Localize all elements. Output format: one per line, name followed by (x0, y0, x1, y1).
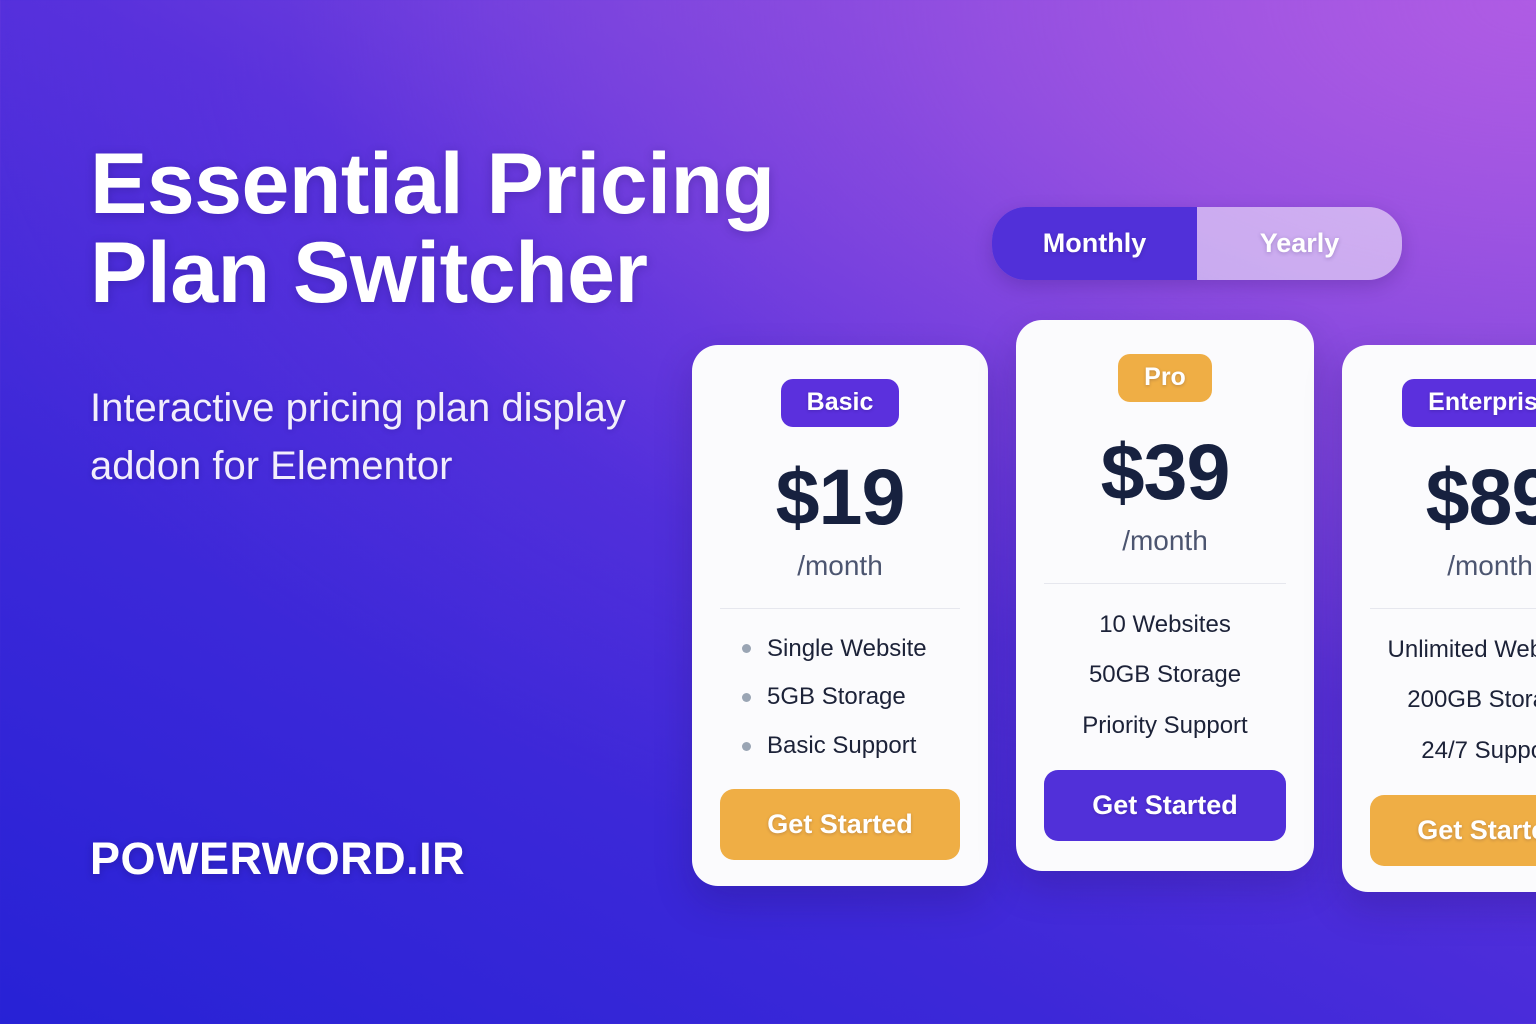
feature-item: 5GB Storage (720, 673, 960, 722)
plan-price: $89 (1426, 457, 1536, 536)
plan-price: $39 (1101, 432, 1230, 511)
hero-panel: Essential Pricing Plan Switcher Interact… (90, 140, 790, 495)
pricing-card-pro[interactable]: Pro $39 /month 10 Websites 50GB Storage … (1016, 320, 1314, 871)
billing-period-toggle[interactable]: Monthly Yearly (992, 207, 1402, 280)
bullet-dot-icon (742, 742, 751, 751)
brand-watermark: POWERWORD.IR (90, 833, 465, 885)
feature-label: 10 Websites (1099, 611, 1231, 638)
plan-period: /month (1447, 550, 1533, 582)
bullet-dot-icon (742, 644, 751, 653)
toggle-option-monthly[interactable]: Monthly (992, 207, 1197, 280)
card-divider (1044, 583, 1286, 584)
feature-label: Basic Support (767, 732, 916, 761)
get-started-button[interactable]: Get Started (1044, 770, 1286, 841)
feature-label: Priority Support (1082, 712, 1247, 739)
feature-list: 10 Websites 50GB Storage Priority Suppor… (1044, 600, 1286, 752)
feature-item: Basic Support (720, 722, 960, 771)
pricing-cards-row: Basic $19 /month Single Website 5GB Stor… (692, 320, 1536, 892)
plan-period: /month (1122, 525, 1208, 557)
toggle-option-yearly[interactable]: Yearly (1197, 207, 1402, 280)
feature-item: Unlimited Websites (1370, 625, 1536, 676)
feature-item: 24/7 Support (1370, 726, 1536, 777)
feature-label: 24/7 Support (1421, 737, 1536, 764)
get-started-button[interactable]: Get Started (720, 789, 960, 860)
feature-label: Unlimited Websites (1388, 636, 1536, 663)
plan-badge: Enterprise (1402, 379, 1536, 427)
plan-period: /month (797, 550, 883, 582)
bullet-dot-icon (742, 693, 751, 702)
card-divider (1370, 608, 1536, 609)
page-title-line-2: Plan Switcher (90, 229, 790, 318)
feature-item: Single Website (720, 625, 960, 674)
pricing-card-basic[interactable]: Basic $19 /month Single Website 5GB Stor… (692, 345, 988, 886)
feature-list: Unlimited Websites 200GB Storage 24/7 Su… (1370, 625, 1536, 777)
feature-label: Single Website (767, 635, 927, 664)
pricing-card-enterprise[interactable]: Enterprise $89 /month Unlimited Websites… (1342, 345, 1536, 892)
page-title-line-1: Essential Pricing (90, 140, 790, 229)
card-divider (720, 608, 960, 609)
page-subtitle: Interactive pricing plan display addon f… (90, 379, 650, 495)
feature-item: 200GB Storage (1370, 675, 1536, 726)
feature-list: Single Website 5GB Storage Basic Support (720, 625, 960, 771)
feature-item: 50GB Storage (1044, 650, 1286, 701)
page-title: Essential Pricing Plan Switcher (90, 140, 790, 319)
feature-item: 10 Websites (1044, 600, 1286, 651)
feature-item: Priority Support (1044, 701, 1286, 752)
plan-badge: Basic (781, 379, 900, 427)
feature-label: 5GB Storage (767, 683, 906, 712)
plan-price: $19 (776, 457, 905, 536)
feature-label: 200GB Storage (1407, 686, 1536, 713)
get-started-button[interactable]: Get Started (1370, 795, 1536, 866)
plan-badge: Pro (1118, 354, 1212, 402)
feature-label: 50GB Storage (1089, 661, 1241, 688)
